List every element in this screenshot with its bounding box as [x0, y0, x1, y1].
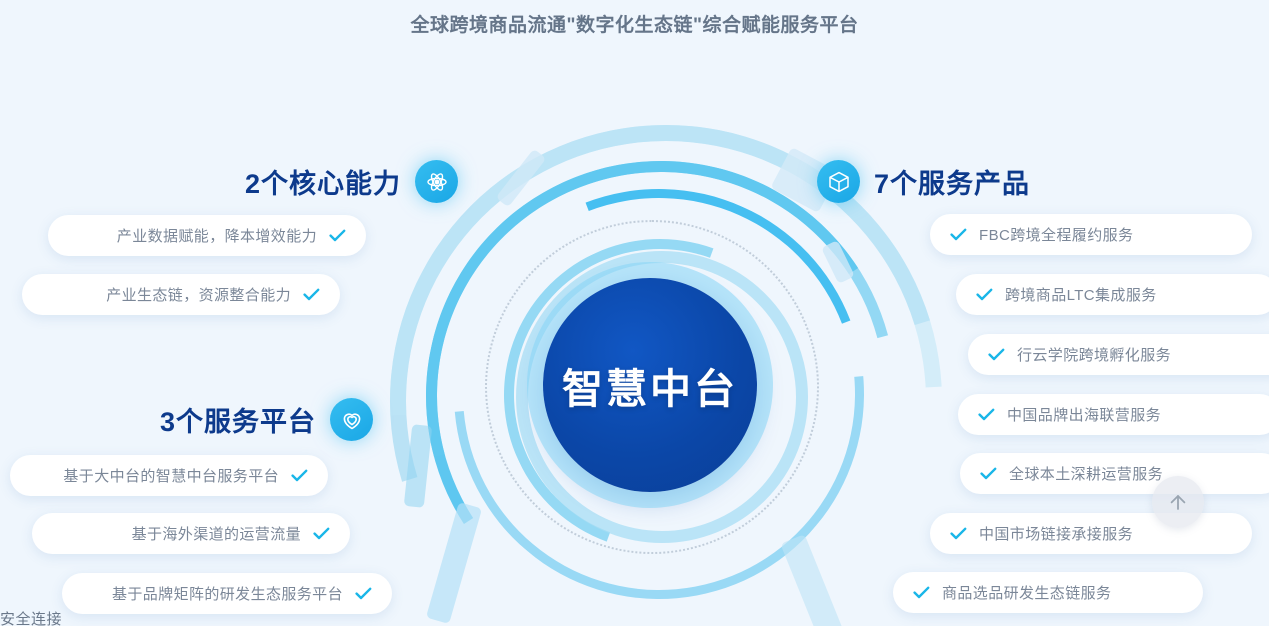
list-item[interactable]: 产业生态链，资源整合能力	[22, 274, 340, 315]
list-item-label: 基于海外渠道的运营流量	[132, 523, 301, 544]
list-item-label: 全球本土深耕运营服务	[1009, 463, 1163, 484]
check-icon	[988, 348, 1005, 361]
check-icon	[303, 288, 320, 301]
list-item[interactable]: 基于品牌矩阵的研发生态服务平台	[62, 573, 392, 614]
check-icon	[950, 228, 967, 241]
list-item-label: 基于大中台的智慧中台服务平台	[63, 465, 279, 486]
list-item[interactable]: 中国品牌出海联营服务	[958, 394, 1269, 435]
section-title: 2个核心能力	[245, 162, 401, 201]
list-item[interactable]: 基于海外渠道的运营流量	[32, 513, 350, 554]
list-item-label: 中国市场链接承接服务	[979, 523, 1133, 544]
footer-fragment: 安全连接	[0, 608, 62, 626]
section-header-service-products: 7个服务产品	[817, 160, 1030, 203]
check-icon	[291, 469, 308, 482]
list-item-label: 产业数据赋能，降本增效能力	[117, 225, 317, 246]
list-item[interactable]: 跨境商品LTC集成服务	[956, 274, 1269, 315]
list-item-label: 基于品牌矩阵的研发生态服务平台	[112, 583, 343, 604]
heart-shield-icon	[330, 398, 373, 441]
back-to-top-button[interactable]	[1152, 476, 1204, 528]
list-item-label: FBC跨境全程履约服务	[979, 224, 1133, 245]
list-item-label: 产业生态链，资源整合能力	[106, 284, 291, 305]
list-item-label: 跨境商品LTC集成服务	[1005, 284, 1157, 305]
section-header-service-platforms: 3个服务平台	[160, 398, 373, 441]
list-item[interactable]: 全球本土深耕运营服务	[960, 453, 1269, 494]
atom-icon	[415, 160, 458, 203]
list-item[interactable]: 中国市场链接承接服务	[930, 513, 1252, 554]
check-icon	[980, 467, 997, 480]
section-title: 3个服务平台	[160, 400, 316, 439]
list-item-label: 商品选品研发生态链服务	[942, 582, 1111, 603]
cube-icon	[817, 160, 860, 203]
list-item[interactable]: 行云学院跨境孵化服务	[968, 334, 1269, 375]
check-icon	[313, 527, 330, 540]
center-hub[interactable]: 智慧中台	[543, 278, 757, 492]
check-icon	[355, 587, 372, 600]
list-item[interactable]: 基于大中台的智慧中台服务平台	[10, 455, 328, 496]
center-hub-label: 智慧中台	[562, 355, 738, 415]
list-item[interactable]: 产业数据赋能，降本增效能力	[48, 215, 366, 256]
list-item-label: 行云学院跨境孵化服务	[1017, 344, 1171, 365]
check-icon	[913, 586, 930, 599]
list-item[interactable]: FBC跨境全程履约服务	[930, 214, 1252, 255]
check-icon	[329, 229, 346, 242]
check-icon	[978, 408, 995, 421]
check-icon	[976, 288, 993, 301]
infographic-canvas: 全球跨境商品流通"数字化生态链"综合赋能服务平台 智慧中台 2个核心能力	[0, 0, 1269, 626]
list-item[interactable]: 商品选品研发生态链服务	[893, 572, 1203, 613]
page-title: 全球跨境商品流通"数字化生态链"综合赋能服务平台	[0, 10, 1269, 37]
section-title: 7个服务产品	[874, 162, 1030, 201]
list-item-label: 中国品牌出海联营服务	[1007, 404, 1161, 425]
section-header-core-capabilities: 2个核心能力	[245, 160, 458, 203]
check-icon	[950, 527, 967, 540]
back-to-top-icon	[1166, 490, 1190, 514]
